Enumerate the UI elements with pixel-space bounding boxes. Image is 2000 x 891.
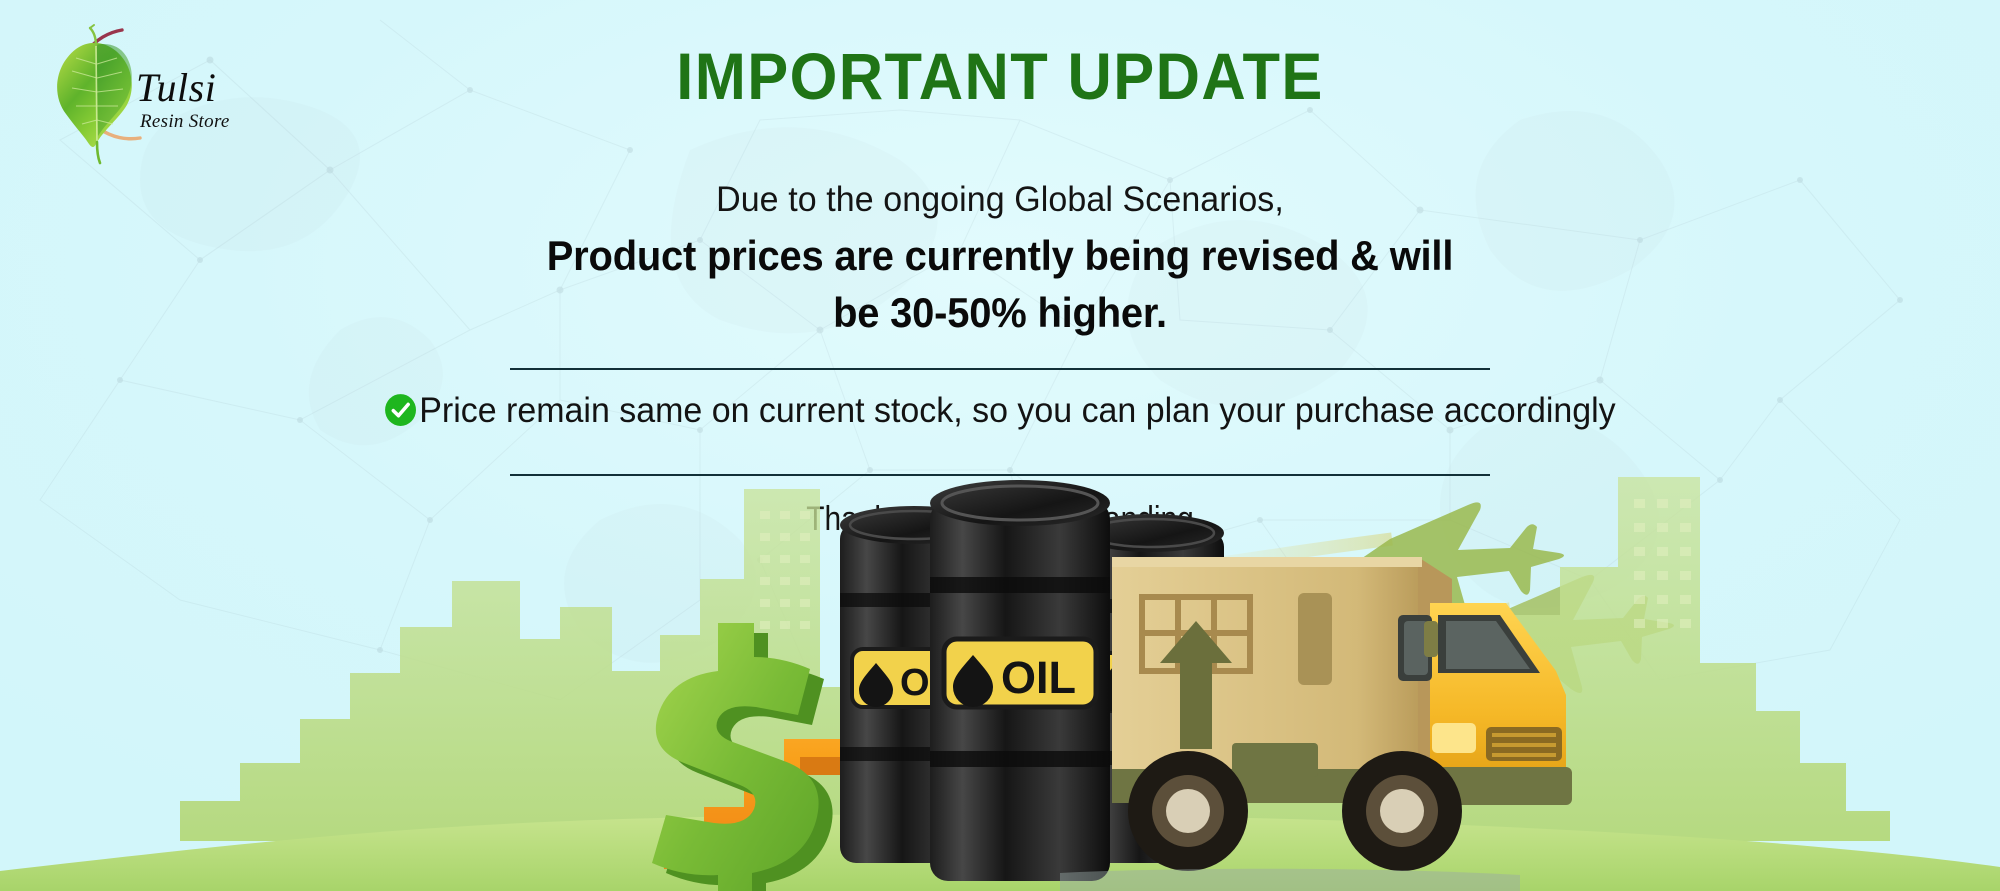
divider-top (510, 368, 1490, 370)
up-arrow-icon (1160, 621, 1232, 749)
ground-hill (0, 814, 2000, 891)
oil-barrel-icon: OIL (1078, 514, 1224, 863)
subtitle-text: Due to the ongoing Global Scenarios, (30, 180, 1970, 220)
price-revision-line-1: Product prices are currently being revis… (50, 228, 1950, 285)
oil-barrel-icon: OIL (840, 506, 988, 863)
svg-text:OIL: OIL (1001, 652, 1076, 703)
3d-dollar-sign-icon (652, 623, 833, 891)
truck-wheel (1128, 751, 1248, 871)
thank-you-text: Thank You for Understanding (120, 500, 1880, 539)
airplane-silhouette-icon (1469, 575, 1674, 693)
price-revision-line-2: be 30-50% higher. (50, 285, 1950, 342)
important-update-banner: Tulsi Resin Store IMPORTANT UPDATE Due t… (0, 0, 2000, 891)
price-revision-text: Product prices are currently being revis… (50, 228, 1950, 341)
svg-text:OIL: OIL (1137, 666, 1200, 708)
oil-price-illustration: OIL OIL OIL (0, 371, 2000, 891)
current-stock-note-label: Price remain same on current stock, so y… (419, 391, 1615, 430)
divider-bottom (510, 474, 1490, 476)
svg-text:OIL: OIL (900, 662, 963, 704)
rising-3d-arrow-icon (664, 623, 962, 871)
delivery-truck-icon (1112, 557, 1572, 871)
green-check-circle-icon (384, 393, 417, 427)
truck-wheel (1342, 751, 1462, 871)
network-pattern-background (0, 0, 2000, 891)
world-map-pattern-background (0, 0, 2000, 891)
road-shadow (1060, 869, 1520, 891)
brand-tagline: Resin Store (140, 112, 230, 131)
page-title: IMPORTANT UPDATE (70, 38, 1930, 114)
oil-barrel-icon: OIL (930, 480, 1110, 881)
current-stock-note: Price remain same on current stock, so y… (30, 391, 1970, 431)
